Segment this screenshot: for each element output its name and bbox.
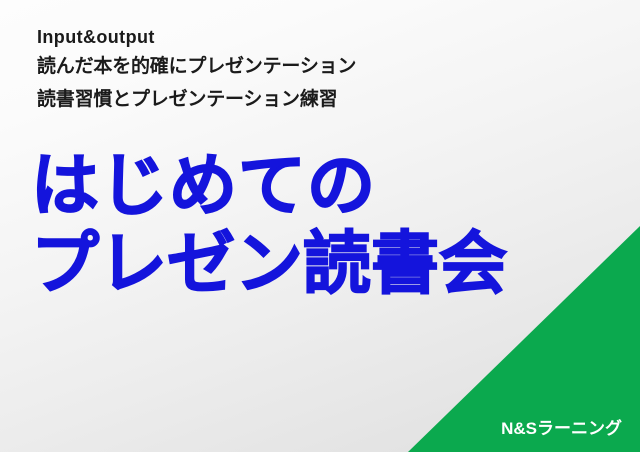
slide-title-line-2: プレゼン読書会 — [31, 225, 631, 303]
subtitle-line-2: 読んだ本を的確にプレゼンテーション — [37, 50, 537, 83]
presentation-slide: Input&output 読んだ本を的確にプレゼンテーション 読書習慣とプレゼン… — [0, 0, 640, 452]
subtitle-line-3: 読書習慣とプレゼンテーション練習 — [37, 83, 537, 116]
brand-name-label: N&Sラーニング — [501, 414, 622, 439]
slide-title-block: はじめての プレゼン読書会 — [31, 147, 631, 303]
slide-subtitle-block: Input&output 読んだ本を的確にプレゼンテーション 読書習慣とプレゼン… — [37, 24, 537, 116]
slide-title-line-1: はじめての — [31, 147, 631, 225]
subtitle-line-1: Input&output — [37, 24, 537, 50]
